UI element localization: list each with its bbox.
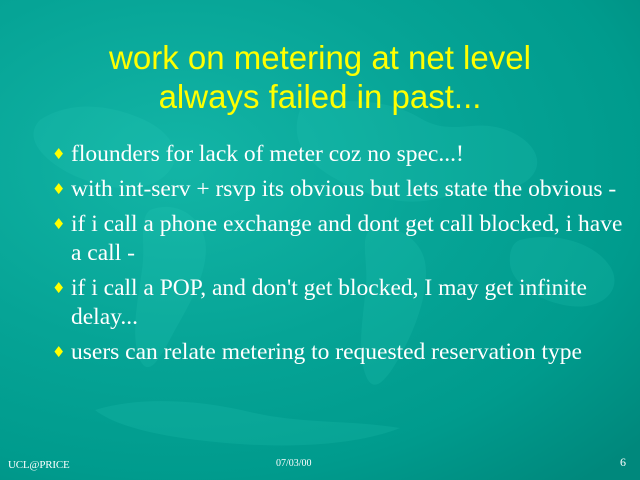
slide-title-line-2: always failed in past... bbox=[0, 77, 640, 116]
bullet-list: ♦ flounders for lack of meter coz no spe… bbox=[52, 140, 628, 373]
footer-organization: UCL@PRICE bbox=[8, 459, 70, 471]
list-item: ♦ if i call a phone exchange and dont ge… bbox=[52, 210, 628, 268]
diamond-bullet-icon: ♦ bbox=[52, 175, 71, 204]
slide-title-line-1: work on metering at net level bbox=[0, 38, 640, 77]
list-item-text: users can relate metering to requested r… bbox=[71, 338, 628, 367]
footer-page-number: 6 bbox=[620, 455, 626, 470]
slide: work on metering at net level always fai… bbox=[0, 0, 640, 480]
footer-date: 07/03/00 bbox=[276, 458, 312, 469]
list-item-text: flounders for lack of meter coz no spec.… bbox=[71, 140, 628, 169]
list-item-text: if i call a POP, and don't get blocked, … bbox=[71, 274, 628, 332]
list-item: ♦ with int-serv + rsvp its obvious but l… bbox=[52, 175, 628, 204]
list-item-text: if i call a phone exchange and dont get … bbox=[71, 210, 628, 268]
diamond-bullet-icon: ♦ bbox=[52, 210, 71, 239]
list-item: ♦ flounders for lack of meter coz no spe… bbox=[52, 140, 628, 169]
list-item: ♦ users can relate metering to requested… bbox=[52, 338, 628, 367]
slide-title: work on metering at net level always fai… bbox=[0, 38, 640, 116]
diamond-bullet-icon: ♦ bbox=[52, 140, 71, 169]
diamond-bullet-icon: ♦ bbox=[52, 338, 71, 367]
diamond-bullet-icon: ♦ bbox=[52, 274, 71, 303]
list-item-text: with int-serv + rsvp its obvious but let… bbox=[71, 175, 628, 204]
list-item: ♦ if i call a POP, and don't get blocked… bbox=[52, 274, 628, 332]
